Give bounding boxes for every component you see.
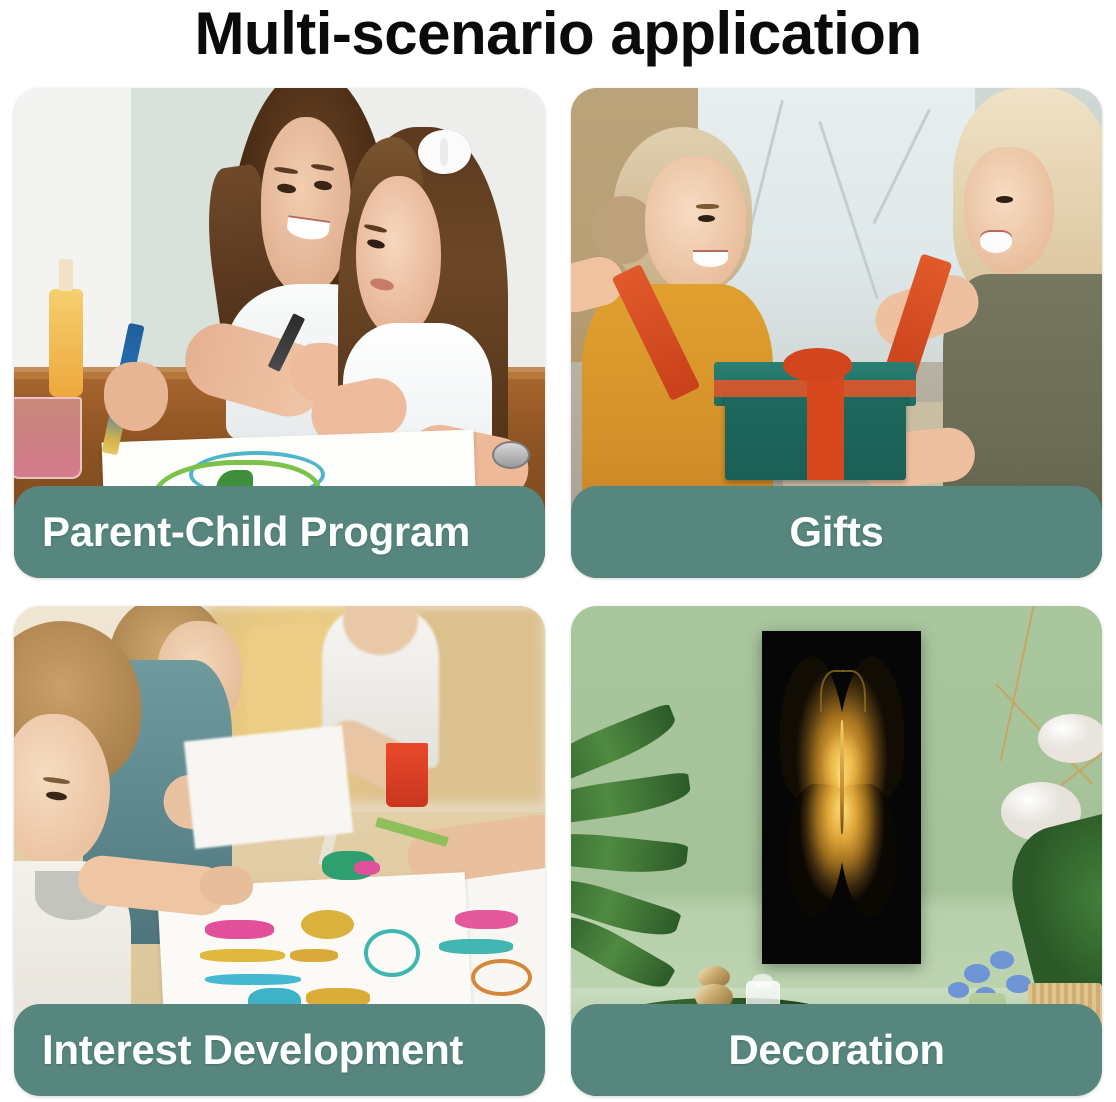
- lamp-globe: [1038, 714, 1102, 763]
- paint-mark-pink-right: [455, 910, 519, 930]
- caption-label: Gifts: [789, 508, 883, 556]
- caption-label: Decoration: [728, 1026, 944, 1074]
- caption-bar-parent-child-program: Parent-Child Program: [14, 486, 545, 578]
- paint-mark-teal-ring: [364, 929, 420, 976]
- girl-face: [645, 157, 746, 294]
- paint-mark-orange-ring: [471, 959, 532, 996]
- mother-face: [261, 117, 351, 293]
- caption-label: Parent-Child Program: [42, 508, 470, 556]
- butterfly-body: [840, 720, 844, 833]
- girl-hair-bow: [418, 130, 471, 174]
- butterfly-canvas-artwork: [762, 631, 921, 964]
- blue-flower: [964, 964, 991, 984]
- woman-eye: [996, 196, 1013, 203]
- scenario-card-parent-child-program[interactable]: Parent-Child Program: [14, 88, 545, 578]
- page-title: Multi-scenario application: [0, 0, 1116, 70]
- girl-hand: [104, 362, 168, 431]
- caption-bar-gifts: Gifts: [571, 486, 1102, 578]
- girl-eyebrow: [696, 204, 719, 209]
- blue-flower: [990, 951, 1013, 969]
- red-cup: [386, 743, 428, 807]
- scenario-card-gifts[interactable]: Gifts: [571, 88, 1102, 578]
- woman-smile: [980, 230, 1012, 253]
- paint-mark-teal-right: [439, 939, 513, 954]
- paint-mark-yellow-stripe: [290, 949, 338, 962]
- scenario-card-decoration[interactable]: Decoration: [571, 606, 1102, 1096]
- butterfly-antenna-left: [820, 670, 844, 712]
- paint-mark-pink-center: [354, 861, 381, 876]
- paint-mark-yellow-stripe: [200, 949, 285, 962]
- caption-bar-interest-development: Interest Development: [14, 1004, 545, 1096]
- lamp-rod: [1000, 606, 1037, 761]
- palm-frond: [571, 828, 689, 879]
- ribbon-knot: [783, 348, 852, 382]
- palm-plant-right: [999, 809, 1102, 1001]
- woman-face: [964, 147, 1054, 274]
- paper-background: [184, 725, 354, 849]
- child-front-hand: [200, 866, 253, 905]
- pink-water-glass: [14, 397, 82, 479]
- girl-face: [356, 176, 441, 338]
- orange-bottle: [49, 289, 84, 397]
- scenario-grid: Parent-Child Program: [14, 88, 1102, 1096]
- caption-label: Interest Development: [42, 1026, 463, 1074]
- paint-mark-pink: [205, 920, 274, 940]
- paint-mark-gold: [301, 910, 354, 939]
- palm-frond: [571, 771, 692, 828]
- scenario-card-interest-development[interactable]: Interest Development: [14, 606, 545, 1096]
- paint-mark-blue-stripe: [205, 974, 301, 986]
- caption-bar-decoration: Decoration: [571, 1004, 1102, 1096]
